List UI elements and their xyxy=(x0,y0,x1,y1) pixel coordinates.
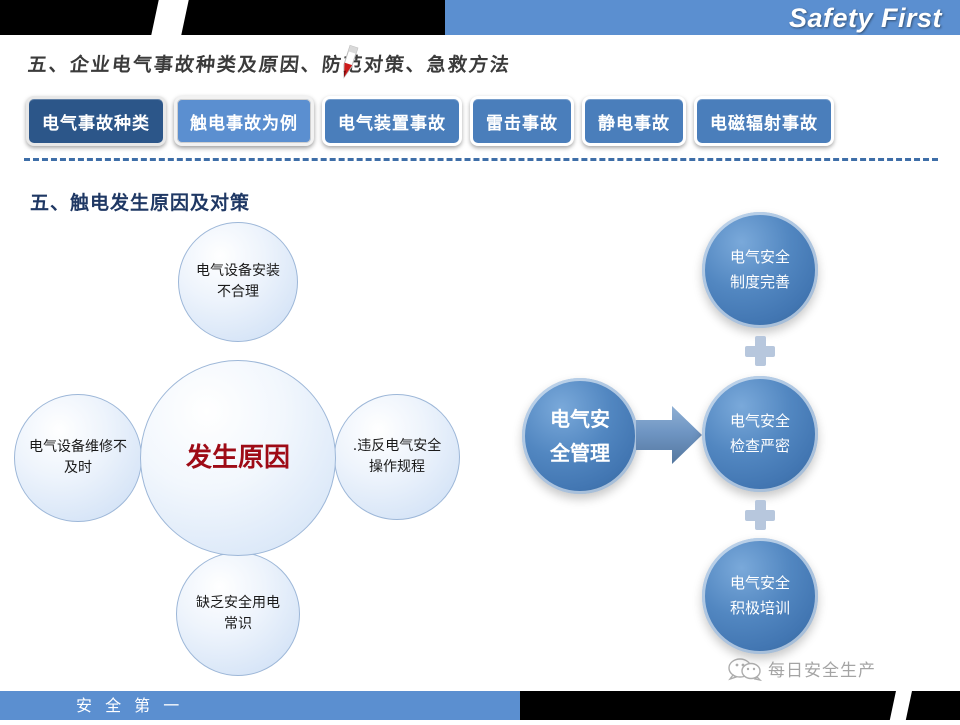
measure-sphere-system-label: 电气安全制度完善 xyxy=(730,245,790,296)
plus-icon-1 xyxy=(745,336,775,366)
footer-text: 安 全 第 一 xyxy=(76,691,183,720)
cause-bubble-top-label: 电气设备安装不合理 xyxy=(179,261,297,303)
banner-black-block-left xyxy=(0,0,160,35)
measure-main-sphere: 电气安全管理 xyxy=(522,378,638,494)
cause-bubble-left-label: 电气设备维修不及时 xyxy=(15,437,141,479)
tab-static-electricity-accident[interactable]: 静电事故 xyxy=(582,96,686,146)
cause-bubble-center: 发生原因 xyxy=(140,360,336,556)
measure-sphere-inspection: 电气安全检查严密 xyxy=(702,376,818,492)
cause-bubble-top: 电气设备安装不合理 xyxy=(178,222,298,342)
cause-bubble-right-label: .违反电气安全操作规程 xyxy=(335,436,459,478)
arrow-right-icon xyxy=(636,404,702,466)
cause-bubble-left: 电气设备维修不及时 xyxy=(14,394,142,522)
cause-bubble-center-label: 发生原因 xyxy=(172,439,304,478)
brand-title: Safety First xyxy=(789,1,942,35)
measure-sphere-training: 电气安全积极培训 xyxy=(702,538,818,654)
measure-main-label: 电气安全管理 xyxy=(550,402,610,470)
watermark: 每日安全生产 xyxy=(728,656,876,681)
wechat-logo-icon xyxy=(728,657,762,681)
tab-lightning-accident[interactable]: 雷击事故 xyxy=(470,96,574,146)
top-banner: Safety First xyxy=(0,0,960,35)
dashed-divider xyxy=(24,158,938,161)
cause-bubble-bottom-label: 缺乏安全用电常识 xyxy=(177,593,299,635)
slide-title: 五、企业电气事故种类及原因、防范对策、急救方法 xyxy=(27,50,513,77)
measure-sphere-inspection-label: 电气安全检查严密 xyxy=(730,409,790,460)
tab-electromagnetic-radiation-accident[interactable]: 电磁辐射事故 xyxy=(694,96,834,146)
tab-electric-shock-example[interactable]: 触电事故为例 xyxy=(174,96,314,146)
measure-sphere-system: 电气安全制度完善 xyxy=(702,212,818,328)
cause-bubble-bottom: 缺乏安全用电常识 xyxy=(176,552,300,676)
plus-icon-2 xyxy=(745,500,775,530)
banner-black-block-right xyxy=(176,0,445,35)
tab-accident-types[interactable]: 电气事故种类 xyxy=(26,96,166,146)
tab-row: 电气事故种类 触电事故为例 电气装置事故 雷击事故 静电事故 电磁辐射事故 xyxy=(26,90,938,152)
section-subhead: 五、触电发生原因及对策 xyxy=(30,188,250,215)
watermark-text: 每日安全生产 xyxy=(768,656,876,681)
cause-bubble-right: .违反电气安全操作规程 xyxy=(334,394,460,520)
tab-electrical-device-accident[interactable]: 电气装置事故 xyxy=(322,96,462,146)
measure-sphere-training-label: 电气安全积极培训 xyxy=(730,571,790,622)
